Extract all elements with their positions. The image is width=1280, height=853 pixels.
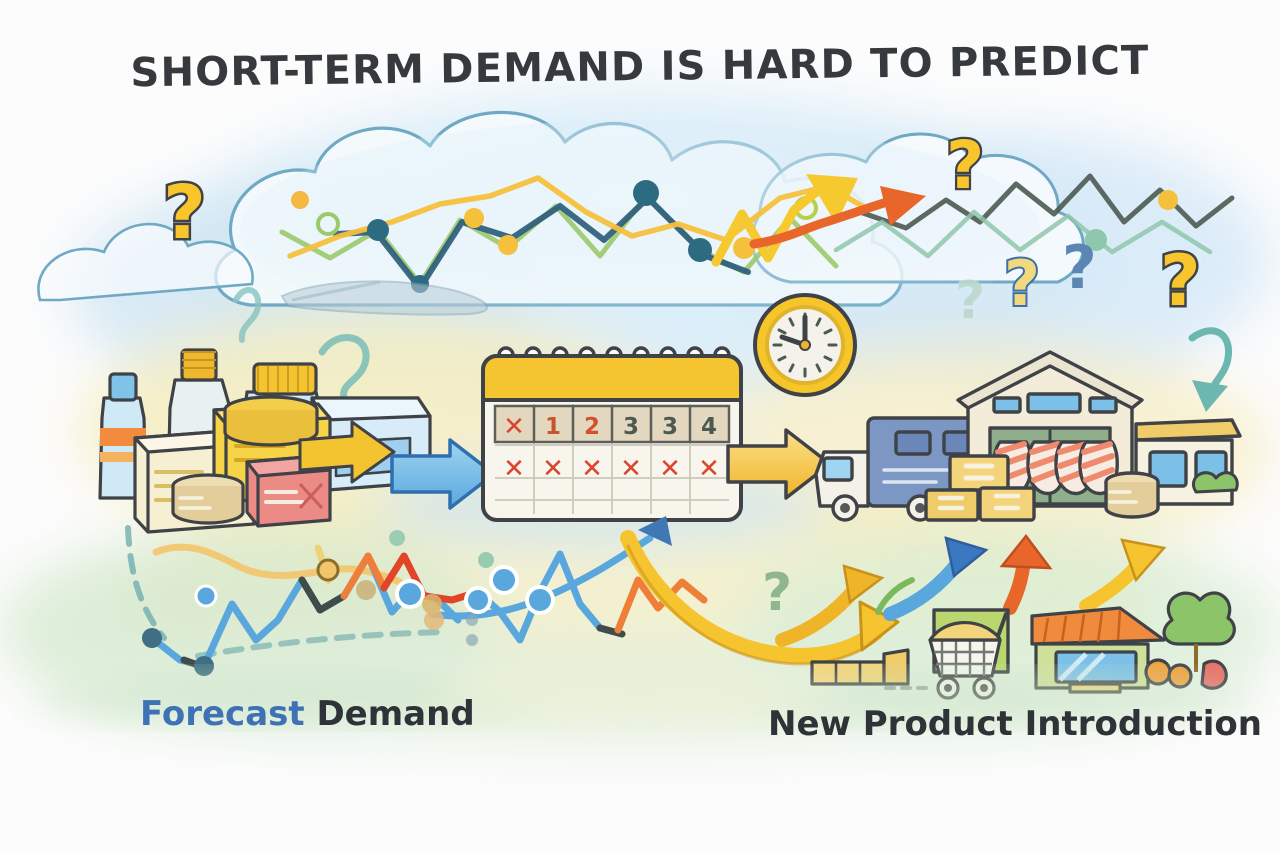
svg-text:✕: ✕ <box>503 454 525 484</box>
tub-tan <box>173 475 243 523</box>
calendar[interactable]: ✕ 1 2 3 3 4 ✕ ✕ ✕ ✕ ✕ ✕ <box>483 348 741 520</box>
svg-text:?: ? <box>1004 247 1040 320</box>
calendar-row-top <box>495 406 729 442</box>
calendar-cell-2: 2 <box>584 414 600 440</box>
calendar-cell-5: 4 <box>701 414 717 440</box>
svg-text:✕: ✕ <box>620 454 642 484</box>
qmark-sky-pale: ? <box>955 271 985 331</box>
svg-text:?: ? <box>946 127 984 204</box>
caption-new-product-introduction: New Product Introduction <box>768 704 1262 744</box>
caption-forecast-demand: Forecast Demand <box>140 694 475 734</box>
svg-text:?: ? <box>955 271 985 331</box>
qmark-sky-right-c: ? <box>1160 240 1201 322</box>
illustration-canvas: ? ? ? ? ? ? ? <box>0 0 1280 853</box>
bush-right <box>1193 473 1237 492</box>
qmark-sky-top-right: ? <box>946 127 984 204</box>
tub-lid-yellow <box>225 397 317 445</box>
barrel <box>1106 473 1158 517</box>
calendar-cell-1: 1 <box>545 414 561 440</box>
calendar-cell-0: ✕ <box>503 412 525 442</box>
qmark-sky-left: ? <box>163 170 206 256</box>
qmark-sky-right-a: ? <box>1004 247 1040 320</box>
caption-forecast-rest: Demand <box>305 694 475 734</box>
svg-text:✕: ✕ <box>659 454 681 484</box>
svg-text:?: ? <box>1062 233 1097 303</box>
hanging-products <box>994 442 1117 494</box>
svg-text:?: ? <box>1160 240 1201 322</box>
calendar-cell-3: 3 <box>623 414 639 440</box>
caption-forecast-accent: Forecast <box>140 694 305 734</box>
svg-text:✕: ✕ <box>542 454 564 484</box>
svg-text:?: ? <box>163 170 206 256</box>
svg-text:✕: ✕ <box>581 454 603 484</box>
calendar-cell-4: 3 <box>662 414 678 440</box>
qmark-sky-right-b: ? <box>1062 233 1097 303</box>
clock <box>755 295 855 395</box>
svg-text:✕: ✕ <box>698 454 720 484</box>
